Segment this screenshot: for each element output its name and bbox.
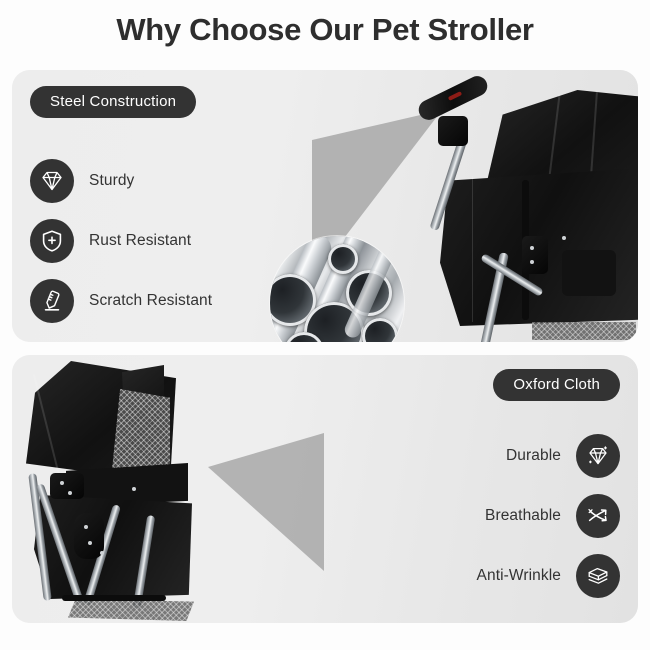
feature-label: Anti-Wrinkle — [477, 567, 561, 585]
pet-stroller-canopy-photo — [12, 355, 262, 623]
feature-label: Breathable — [485, 507, 561, 525]
diamond-icon — [30, 159, 74, 203]
pet-stroller-frame-photo — [412, 70, 638, 342]
panel-oxford-cloth: Oxford Cloth Durable Breathable — [12, 355, 638, 623]
badge-steel-construction: Steel Construction — [30, 86, 196, 118]
page-title: Why Choose Our Pet Stroller — [0, 12, 650, 48]
feature-item-durable: Durable — [477, 433, 620, 479]
panel-steel-construction: Steel Construction Sturdy — [12, 70, 638, 342]
feature-list-steel: Sturdy Rust Resistant — [30, 158, 212, 324]
feature-item-sturdy: Sturdy — [30, 158, 212, 204]
sparkle-diamond-icon — [576, 434, 620, 478]
infographic-page: Why Choose Our Pet Stroller — [0, 0, 650, 650]
feature-label: Rust Resistant — [89, 232, 191, 250]
feature-label: Sturdy — [89, 172, 134, 190]
airflow-arrows-icon — [576, 494, 620, 538]
feature-item-anti-wrinkle: Anti-Wrinkle — [477, 553, 620, 599]
feature-label: Scratch Resistant — [89, 292, 212, 310]
badge-oxford-cloth: Oxford Cloth — [493, 369, 620, 401]
shield-plus-icon — [30, 219, 74, 263]
scraper-icon — [30, 279, 74, 323]
feature-item-rust-resistant: Rust Resistant — [30, 218, 212, 264]
feature-item-breathable: Breathable — [477, 493, 620, 539]
magnifier-steel-tubes — [270, 236, 404, 342]
feature-label: Durable — [506, 447, 561, 465]
fabric-stack-icon — [576, 554, 620, 598]
feature-item-scratch-resistant: Scratch Resistant — [30, 278, 212, 324]
feature-list-oxford: Durable Breathable — [477, 433, 620, 599]
